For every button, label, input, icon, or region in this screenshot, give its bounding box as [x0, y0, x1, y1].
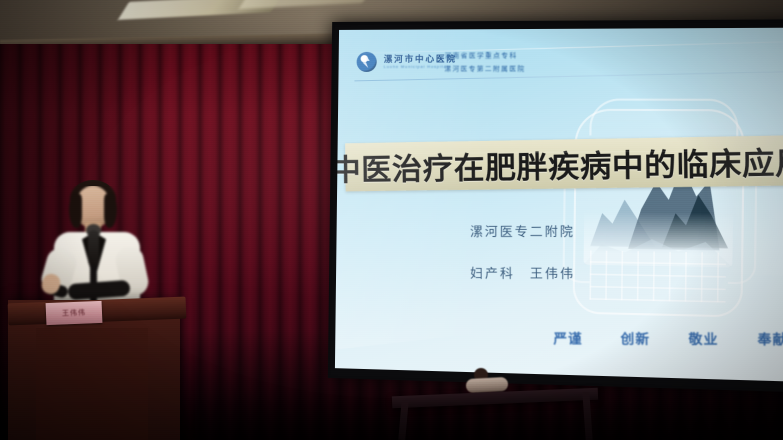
slide-header-logo: 漯河市中心医院 Luohe Municipal Hospital [357, 52, 457, 72]
podium-nameplate: 王伟伟 [46, 301, 103, 325]
projection-screen-frame: 漯河市中心医院 Luohe Municipal Hospital 河南省医学重点… [328, 19, 783, 392]
presenter-softening [38, 186, 156, 314]
slide-header-subtext: 河南省医学重点专科 漯河医专第二附属医院 [444, 49, 525, 73]
motto-word-4: 奉献 [757, 328, 783, 348]
header-divider [354, 71, 783, 81]
nameplate-text: 王伟伟 [62, 308, 86, 319]
motto-word-3: 敬业 [688, 328, 718, 348]
slide-subtitle-block: 漯河医专二附院 妇产科 王伟伟 [425, 221, 622, 283]
subtitle-presenter: 妇产科 王伟伟 [470, 262, 575, 282]
podium-shaft [36, 328, 148, 440]
motto-word-2: 创新 [620, 328, 650, 348]
projection-screen-surface: 漯河市中心医院 Luohe Municipal Hospital 河南省医学重点… [335, 28, 783, 382]
slide-footer-motto: 严谨 创新 敬业 奉献 [553, 328, 783, 348]
header-subtext-line-1: 河南省医学重点专科 [445, 49, 526, 59]
subtitle-institution: 漯河医专二附院 [470, 221, 575, 240]
slide-title: 中医治疗在肥胖疾病中的临床应用 [335, 137, 783, 189]
hospital-logo-icon [357, 52, 377, 72]
motto-word-1: 严谨 [553, 328, 582, 348]
header-subtext-line-2: 漯河医专第二附属医院 [444, 63, 525, 73]
slide-title-band: 中医治疗在肥胖疾病中的临床应用 [345, 135, 783, 191]
table-object [466, 377, 509, 393]
presenter [38, 186, 156, 314]
presentation-photo-scene: 漯河市中心医院 Luohe Municipal Hospital 河南省医学重点… [0, 0, 783, 440]
